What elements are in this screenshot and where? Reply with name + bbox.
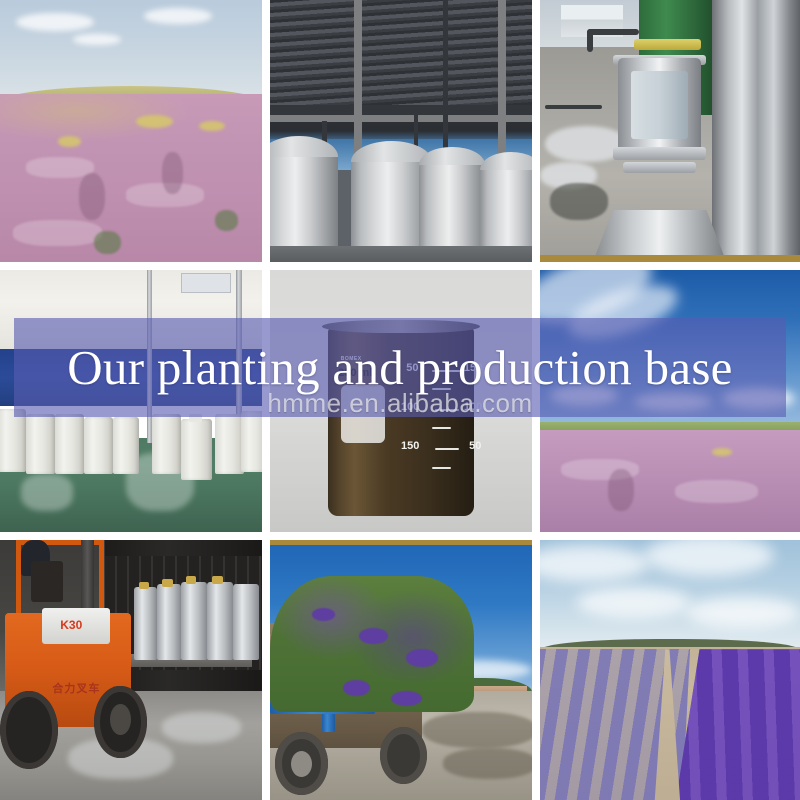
roof-truss: [270, 105, 532, 115]
jerrycan: [181, 419, 212, 479]
shadow-streak: [162, 152, 183, 194]
highlight-streak: [675, 480, 758, 504]
yellow-bloom: [199, 121, 225, 131]
graduation-left-3: 150: [401, 440, 419, 452]
clary-sage-field-photo: [0, 0, 262, 262]
panel-forklift[interactable]: K30 合力叉车: [0, 540, 262, 800]
hall-floor: [270, 246, 532, 262]
graduation-minor-tick: [432, 467, 450, 469]
floor-reflection: [21, 474, 73, 511]
lavender-sprig: [343, 680, 369, 696]
jerrycan: [241, 411, 262, 471]
hose-line: [545, 105, 602, 109]
steel-column: [443, 0, 448, 152]
yellow-bloom: [58, 136, 82, 146]
collage-page: BOMEX 250 ml 50 150 100 100 150 50: [0, 0, 800, 800]
drum-cap: [139, 582, 149, 590]
lavender-sprig: [312, 608, 336, 621]
floor-puddle: [162, 712, 241, 743]
jerrycan: [0, 409, 26, 472]
wall-sign: [181, 273, 230, 293]
top-accent-line: [270, 540, 532, 545]
cut-stalk-scatter: [443, 748, 532, 779]
cloud-shape: [144, 8, 212, 24]
drum-cap: [212, 576, 222, 584]
graduation-tick: [435, 448, 459, 450]
drum-cap: [186, 576, 196, 584]
foliage-patch: [94, 231, 120, 255]
lavender-rows-photo: [540, 540, 800, 800]
shadow-streak: [79, 173, 105, 220]
panel-harvest-trailer[interactable]: [270, 540, 532, 800]
steel-drum: [207, 582, 233, 660]
jerrycan: [113, 417, 139, 475]
green-tank-valve-photo: [540, 0, 800, 262]
title-overlay-band: Our planting and production base: [14, 318, 786, 417]
steel-drum: [157, 584, 181, 659]
grid-gutter: [262, 540, 270, 800]
wheel-hub: [110, 704, 131, 735]
stainless-column: [712, 0, 800, 262]
grid-gutter: [532, 540, 540, 800]
grid-gutter-row: [0, 262, 800, 270]
panel-tank-hall[interactable]: [270, 0, 532, 262]
cloud-shape: [73, 34, 120, 44]
grid-gutter-row: [0, 532, 800, 540]
distillation-tank-hall-photo: [270, 0, 532, 262]
steel-drum: [181, 582, 207, 660]
lower-flange: [613, 147, 707, 160]
jerrycan: [215, 414, 244, 474]
sight-glass-window: [631, 71, 688, 139]
yellow-handle: [634, 39, 702, 49]
operator-seat: [31, 561, 62, 603]
panel-green-tank-valve[interactable]: [540, 0, 800, 262]
graduation-minor-tick: [432, 427, 450, 429]
jerrycan: [55, 414, 84, 474]
debris-patch: [550, 183, 607, 220]
outlet-pipe: [587, 29, 639, 36]
corrugated-roof: [270, 0, 532, 115]
shadow-streak: [608, 469, 634, 511]
jerrycan: [152, 414, 181, 474]
jerrycan: [26, 414, 55, 474]
foliage-patch: [215, 210, 239, 231]
wheel-rim: [291, 751, 312, 777]
jerrycan: [84, 417, 113, 475]
purlin-beam: [270, 115, 532, 122]
forklift-loading-drums-photo: K30 合力叉车: [0, 540, 262, 800]
forklift-front-wheel: [0, 691, 58, 769]
forklift-model-badge: K30: [60, 618, 82, 632]
outlet-pipe-elbow: [587, 29, 594, 53]
panel-clary-sage-field[interactable]: [0, 0, 262, 262]
steel-drum: [134, 587, 158, 660]
panel-lavender-rows[interactable]: [540, 540, 800, 800]
forklift-brand-text: 合力叉车: [52, 680, 100, 696]
bottom-accent-line: [540, 255, 800, 262]
steel-drum: [233, 584, 259, 659]
storage-tank: [270, 144, 338, 262]
highlight-streak: [13, 220, 102, 246]
harvested-lavender-load: [270, 576, 474, 711]
graduation-right-3: 50: [469, 440, 481, 452]
cloud-shape: [576, 587, 690, 618]
lavender-sprig: [359, 628, 388, 644]
cut-stalk-scatter: [422, 712, 532, 748]
harvest-trailer-photo: [270, 540, 532, 800]
lavender-field-layer: [540, 430, 800, 532]
page-title: Our planting and production base: [67, 343, 733, 392]
drum-cap: [162, 579, 172, 587]
grid-gutter: [262, 0, 270, 262]
clamp-ring: [623, 162, 696, 172]
grid-gutter: [532, 0, 540, 262]
